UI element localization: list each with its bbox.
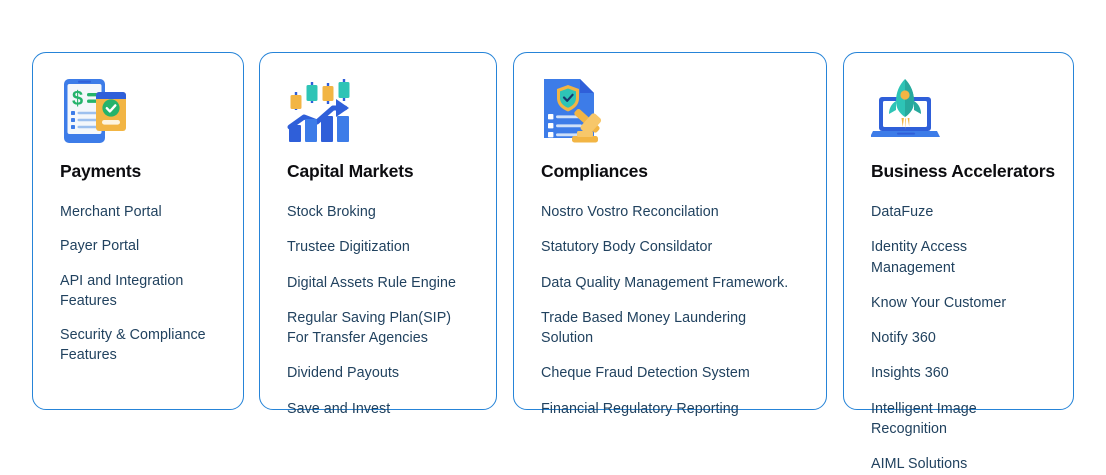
list-item[interactable]: Dividend Payouts xyxy=(287,363,470,383)
list-item[interactable]: Data Quality Management Framework. xyxy=(541,273,800,293)
candlestick-growth-chart-icon xyxy=(287,75,470,153)
list-item[interactable]: Statutory Body Consildator xyxy=(541,237,800,257)
list-item[interactable]: Regular Saving Plan(SIP) For Transfer Ag… xyxy=(287,308,470,349)
list-item[interactable]: API and Integration Features xyxy=(60,271,217,312)
card-title: Payments xyxy=(60,161,217,182)
card-business-accelerators[interactable]: Business Accelerators DataFuze Identity … xyxy=(843,52,1074,410)
list-item[interactable]: Stock Broking xyxy=(287,202,470,222)
card-compliances[interactable]: Compliances Nostro Vostro Reconcilation … xyxy=(513,52,827,410)
card-capital-markets[interactable]: Capital Markets Stock Broking Trustee Di… xyxy=(259,52,497,410)
mobile-payment-icon: $ xyxy=(60,75,217,153)
feature-list: DataFuze Identity Access Management Know… xyxy=(871,202,1047,475)
list-item[interactable]: Trade Based Money Laundering Solution xyxy=(541,308,800,349)
list-item[interactable]: Know Your Customer xyxy=(871,293,1047,313)
list-item[interactable]: Payer Portal xyxy=(60,236,217,256)
feature-list: Nostro Vostro Reconcilation Statutory Bo… xyxy=(541,202,800,419)
card-title: Capital Markets xyxy=(287,161,470,182)
list-item[interactable]: Intelligent Image Recognition xyxy=(871,399,1047,440)
card-payments[interactable]: $ Payments xyxy=(32,52,244,410)
list-item[interactable]: AIML Solutions xyxy=(871,454,1047,474)
card-title: Compliances xyxy=(541,161,800,182)
document-shield-gavel-icon xyxy=(541,75,800,153)
card-title: Business Accelerators xyxy=(871,161,1047,182)
list-item[interactable]: Merchant Portal xyxy=(60,202,217,222)
svg-text:$: $ xyxy=(72,88,83,110)
list-item[interactable]: Financial Regulatory Reporting xyxy=(541,399,800,419)
rocket-laptop-icon xyxy=(871,75,1047,153)
list-item[interactable]: DataFuze xyxy=(871,202,1047,222)
list-item[interactable]: Nostro Vostro Reconcilation xyxy=(541,202,800,222)
list-item[interactable]: Identity Access Management xyxy=(871,237,1047,278)
list-item[interactable]: Security & Compliance Features xyxy=(60,325,217,366)
list-item[interactable]: Notify 360 xyxy=(871,328,1047,348)
feature-card-board: $ Payments xyxy=(0,0,1106,459)
list-item[interactable]: Cheque Fraud Detection System xyxy=(541,363,800,383)
list-item[interactable]: Trustee Digitization xyxy=(287,237,470,257)
list-item[interactable]: Insights 360 xyxy=(871,363,1047,383)
list-item[interactable]: Save and Invest xyxy=(287,399,470,419)
feature-list: Merchant Portal Payer Portal API and Int… xyxy=(60,202,217,366)
feature-list: Stock Broking Trustee Digitization Digit… xyxy=(287,202,470,419)
list-item[interactable]: Digital Assets Rule Engine xyxy=(287,273,470,293)
